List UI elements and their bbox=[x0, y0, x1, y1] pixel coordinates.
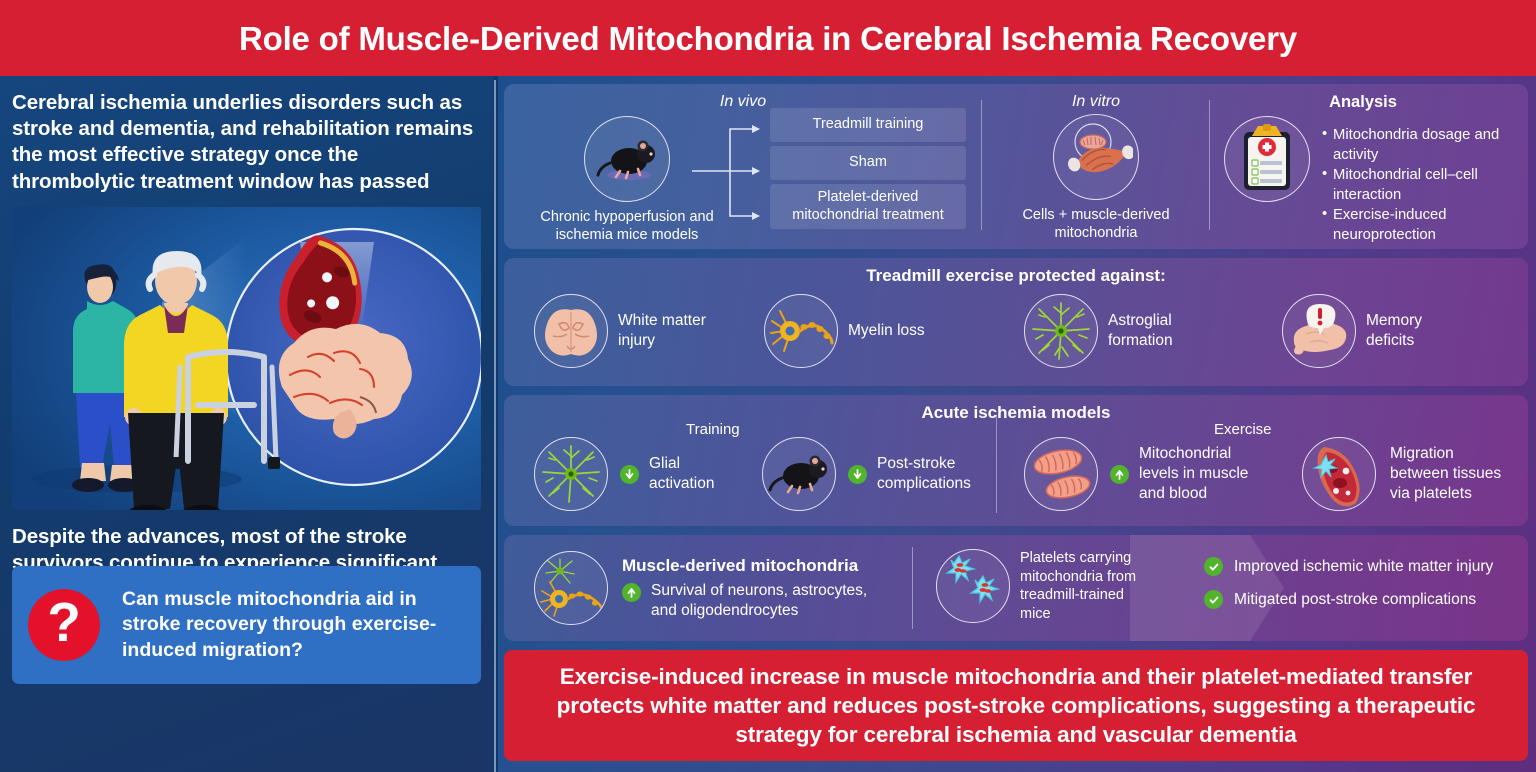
analysis-bullets: Mitochondria dosage and activity Mitocho… bbox=[1322, 126, 1522, 246]
infographic-root: Role of Muscle-Derived Mitochondria in C… bbox=[0, 0, 1536, 772]
astrocyte-icon bbox=[1024, 294, 1098, 368]
in-vivo-section: In vivo Chronic hypoperfusion and ischem… bbox=[504, 84, 982, 249]
acute-ischemia-panel: Acute ischemia models Training Exercise bbox=[504, 395, 1528, 526]
acute-label-0: Glial activation bbox=[649, 454, 739, 494]
platelets-icon bbox=[936, 549, 1010, 623]
acute-item-1: Post-stroke complications bbox=[762, 437, 989, 511]
branch-arrows bbox=[690, 108, 774, 234]
down-arrow-badge bbox=[848, 465, 867, 484]
acute-label-2: Mitochondrial levels in muscle and blood bbox=[1139, 444, 1249, 503]
training-label: Training bbox=[686, 421, 740, 438]
blood-vessel-platelet-icon bbox=[1302, 437, 1376, 511]
analysis-bullet-2: Exercise-induced neuroprotection bbox=[1322, 206, 1522, 245]
platelets-svg bbox=[942, 555, 1004, 617]
research-question-box: ? Can muscle mitochondria aid in stroke … bbox=[12, 566, 481, 684]
question-mark-icon: ? bbox=[28, 589, 100, 661]
page-title: Role of Muscle-Derived Mitochondria in C… bbox=[239, 22, 1297, 55]
protection-item-2: Astroglial formation bbox=[1024, 294, 1200, 368]
acute-item-0: Glial activation bbox=[534, 437, 739, 511]
protection-item-0: White matter injury bbox=[534, 294, 726, 368]
mitochondria-pair-icon bbox=[1024, 437, 1098, 511]
mouse-icon bbox=[762, 437, 836, 511]
mouse-icon-svg bbox=[596, 135, 658, 183]
title-bar: Role of Muscle-Derived Mitochondria in C… bbox=[0, 0, 1536, 76]
clipboard-medical-icon bbox=[1224, 116, 1310, 202]
brain-memory-alert-icon bbox=[1282, 294, 1356, 368]
patient-illustration-svg bbox=[12, 207, 481, 510]
down-arrow-badge bbox=[620, 465, 639, 484]
research-question-text: Can muscle mitochondria aid in stroke re… bbox=[122, 587, 465, 663]
outcomes-list: Improved ischemic white matter injury Mi… bbox=[1204, 557, 1493, 623]
acute-label-3: Migration between tissues via platelets bbox=[1390, 444, 1504, 503]
lead-paragraph: Cerebral ischemia underlies disorders su… bbox=[12, 90, 481, 195]
protection-heading: Treadmill exercise protected against: bbox=[504, 266, 1528, 286]
protection-item-3: Memory deficits bbox=[1282, 294, 1450, 368]
outcome-row-1: Mitigated post-stroke complications bbox=[1204, 590, 1493, 609]
mdm-icon-wrap: Muscle-derived mitochondria Survival of … bbox=[534, 551, 895, 625]
clipboard-medical-svg bbox=[1238, 124, 1296, 194]
outcome-label-0: Improved ischemic white matter injury bbox=[1234, 558, 1493, 576]
protection-item-1: Myelin loss bbox=[764, 294, 928, 368]
brain-coronal-icon bbox=[534, 294, 608, 368]
mitochondria-pair-svg bbox=[1030, 446, 1092, 502]
neuron-astrocyte-icon bbox=[534, 551, 608, 625]
mdm-subtitle: Survival of neurons, astrocytes, and oli… bbox=[651, 581, 895, 621]
mouse-icon-svg-2 bbox=[768, 450, 830, 498]
arm-platelet-derived-treatment: Platelet-derived mitochondrial treatment bbox=[770, 184, 966, 229]
mdm-divider bbox=[912, 547, 913, 629]
in-vitro-caption: Cells + muscle-derived mitochondria bbox=[996, 206, 1196, 242]
conclusion-banner: Exercise-induced increase in muscle mito… bbox=[504, 650, 1528, 761]
analysis-bullet-0: Mitochondria dosage and activity bbox=[1322, 126, 1522, 165]
outcome-label-1: Mitigated post-stroke complications bbox=[1234, 591, 1476, 609]
acute-item-2: Mitochondrial levels in muscle and blood bbox=[1024, 437, 1249, 511]
analysis-title: Analysis bbox=[1228, 93, 1498, 112]
up-arrow-badge bbox=[1110, 465, 1129, 484]
blood-vessel-platelet-svg bbox=[1306, 441, 1372, 507]
conclusion-text: Exercise-induced increase in muscle mito… bbox=[530, 662, 1502, 750]
muscle-mitochondria-svg bbox=[1059, 120, 1133, 194]
neuron-astrocyte-svg bbox=[538, 557, 604, 619]
brain-coronal-svg bbox=[543, 306, 599, 356]
protection-label-1: Myelin loss bbox=[848, 321, 928, 341]
in-vitro-section: In vitro bbox=[982, 84, 1210, 249]
acute-ischemia-divider bbox=[996, 415, 997, 513]
astrocyte-icon bbox=[534, 437, 608, 511]
check-badge bbox=[1204, 590, 1223, 609]
column-divider bbox=[494, 80, 496, 772]
right-column: In vivo Chronic hypoperfusion and ischem… bbox=[498, 76, 1536, 772]
protection-label-2: Astroglial formation bbox=[1108, 311, 1200, 351]
arm-treadmill-training: Treadmill training bbox=[770, 108, 966, 142]
exercise-label: Exercise bbox=[1214, 421, 1272, 438]
outcome-row-0: Improved ischemic white matter injury bbox=[1204, 557, 1493, 576]
protection-panel: Treadmill exercise protected against: Wh… bbox=[504, 258, 1528, 386]
muscle-derived-panel: Muscle-derived mitochondria Survival of … bbox=[504, 535, 1528, 641]
analysis-bullet-1: Mitochondrial cell–cell interaction bbox=[1322, 166, 1522, 205]
mouse-icon bbox=[584, 116, 670, 202]
check-badge bbox=[1204, 557, 1223, 576]
patient-illustration bbox=[12, 207, 481, 510]
brain-memory-alert-svg bbox=[1288, 302, 1350, 360]
mdm-title: Muscle-derived mitochondria bbox=[622, 556, 895, 576]
platelet-item: Platelets carrying mitochondria from tre… bbox=[936, 549, 1148, 623]
acute-ischemia-heading: Acute ischemia models bbox=[504, 403, 1528, 423]
neuron-myelin-svg bbox=[768, 305, 834, 357]
protection-label-3: Memory deficits bbox=[1366, 311, 1450, 351]
acute-label-1: Post-stroke complications bbox=[877, 454, 989, 494]
astrocyte-svg-2 bbox=[539, 442, 603, 506]
acute-item-3: Migration between tissues via platelets bbox=[1302, 437, 1504, 511]
analysis-section: Analysis bbox=[1210, 84, 1526, 249]
muscle-mitochondria-icon bbox=[1053, 114, 1139, 200]
in-vitro-title: In vitro bbox=[982, 93, 1210, 111]
study-design-panel: In vivo Chronic hypoperfusion and ischem… bbox=[504, 84, 1528, 249]
astrocyte-svg bbox=[1029, 299, 1093, 363]
protection-label-0: White matter injury bbox=[618, 311, 726, 351]
up-arrow-badge bbox=[622, 583, 641, 602]
arm-sham: Sham bbox=[770, 146, 966, 180]
neuron-myelin-icon bbox=[764, 294, 838, 368]
platelet-caption: Platelets carrying mitochondria from tre… bbox=[1020, 549, 1148, 623]
